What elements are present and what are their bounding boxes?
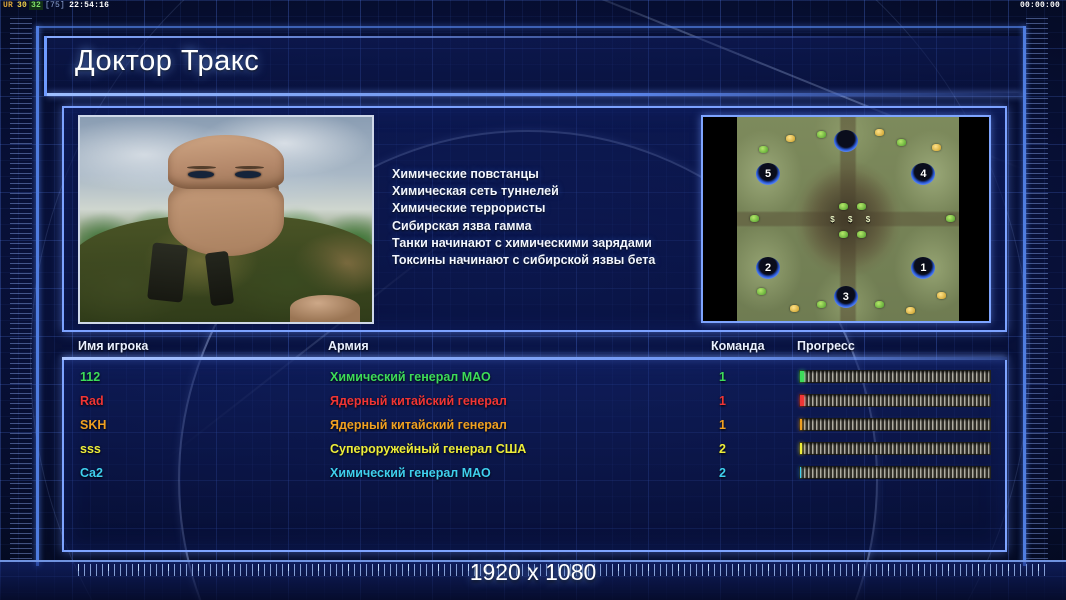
player-army: Супероружейный генерал США: [330, 442, 526, 456]
progress-bar-fill: [800, 395, 804, 406]
player-team: 1: [719, 370, 726, 384]
minimap-resource-blip: [839, 231, 848, 238]
description-line: Токсины начинают с сибирской язвы бета: [392, 252, 712, 269]
progress-bar-track: [799, 370, 991, 383]
progress-bar-track: [799, 442, 991, 455]
minimap-center-supply: $: [848, 215, 852, 224]
portrait-gear-strap-1: [147, 242, 188, 303]
minimap-resource-blip: [857, 231, 866, 238]
general-info-panel: Химические повстанцы Химическая сеть тун…: [62, 106, 1007, 332]
title-top-rule: [47, 36, 1022, 38]
table-row[interactable]: RadЯдерный китайский генерал1: [64, 389, 1005, 413]
player-team: 1: [719, 418, 726, 432]
player-name: 112: [80, 370, 100, 384]
column-header-team: Команда: [711, 339, 765, 353]
minimap-resource-blip: [897, 139, 906, 146]
description-line: Химическая сеть туннелей: [392, 183, 712, 200]
player-name: sss: [80, 442, 101, 456]
minimap-center-supply: $: [830, 215, 834, 224]
player-army: Ядерный китайский генерал: [330, 418, 507, 432]
player-progress: [799, 370, 991, 383]
progress-bar-track: [799, 394, 991, 407]
debug-value-b: 32: [29, 1, 43, 10]
minimap-terrain: 54213$$$: [737, 117, 959, 321]
player-team: 2: [719, 466, 726, 480]
player-name: Ca2: [80, 466, 103, 480]
minimap-resource-blip: [875, 129, 884, 136]
progress-bar-track: [799, 466, 991, 479]
minimap-resource-blip: [757, 288, 766, 295]
title-panel: Доктор Тракс: [44, 36, 1022, 96]
general-description: Химические повстанцы Химическая сеть тун…: [392, 166, 712, 269]
description-line: Сибирская язва гамма: [392, 218, 712, 235]
commander-portrait: [78, 115, 374, 324]
minimap-resource-blip: [857, 203, 866, 210]
minimap-resource-blip: [875, 301, 884, 308]
ruler-left: [10, 18, 32, 560]
minimap-resource-blip: [946, 215, 955, 222]
portrait-headwrap: [168, 135, 285, 188]
description-line: Химические террористы: [392, 200, 712, 217]
player-table-header: Имя игрока Армия Команда Прогресс: [62, 338, 1007, 360]
player-progress: [799, 466, 991, 479]
progress-bar-track: [799, 418, 991, 431]
minimap-center-supply: $: [866, 215, 870, 224]
column-header-name: Имя игрока: [78, 339, 148, 353]
minimap-spawn-2: 2: [756, 257, 780, 279]
page-title: Доктор Тракс: [75, 45, 259, 78]
player-table: 112Химический генерал МАО1RadЯдерный кит…: [62, 360, 1007, 552]
debug-label-ur: UR: [1, 1, 15, 10]
minimap-resource-blip: [790, 305, 799, 312]
resolution-label: 1920 x 1080: [0, 559, 1066, 586]
minimap-resource-blip: [786, 135, 795, 142]
player-name: Rad: [80, 394, 104, 408]
minimap-resource-blip: [759, 146, 768, 153]
debug-value-a: 30: [15, 1, 29, 10]
portrait-hand: [290, 295, 360, 322]
minimap-resource-blip: [906, 307, 915, 314]
minimap-resource-blip: [750, 215, 759, 222]
table-row[interactable]: 112Химический генерал МАО1: [64, 365, 1005, 389]
column-header-army: Армия: [328, 339, 369, 353]
progress-bar-fill: [800, 467, 801, 478]
description-line: Танки начинают с химическими зарядами: [392, 235, 712, 252]
minimap: 54213$$$: [701, 115, 991, 323]
player-progress: [799, 442, 991, 455]
progress-bar-fill: [800, 419, 802, 430]
table-row[interactable]: SKHЯдерный китайский генерал1: [64, 413, 1005, 437]
minimap-resource-blip: [937, 292, 946, 299]
player-progress: [799, 418, 991, 431]
table-row[interactable]: Ca2Химический генерал МАО2: [64, 461, 1005, 485]
minimap-spawn-3: 3: [834, 286, 858, 308]
minimap-resource-blip: [817, 301, 826, 308]
debug-clock: 22:54:16: [67, 1, 111, 10]
elapsed-timer: 00:00:00: [1020, 0, 1060, 12]
title-bottom-rule: [47, 93, 1022, 96]
debug-statusbar: UR3032[75]22:54:16 00:00:00: [0, 0, 1066, 12]
table-row[interactable]: sssСупероружейный генерал США2: [64, 437, 1005, 461]
debug-value-c: [75]: [43, 1, 67, 10]
loading-screen: UR3032[75]22:54:16 00:00:00 Доктор Тракс: [0, 0, 1066, 600]
ruler-right: [1026, 18, 1048, 560]
player-team: 2: [719, 442, 726, 456]
player-team: 1: [719, 394, 726, 408]
player-army: Ядерный китайский генерал: [330, 394, 507, 408]
player-progress: [799, 394, 991, 407]
minimap-resource-blip: [817, 131, 826, 138]
player-army: Химический генерал МАО: [330, 370, 491, 384]
minimap-resource-blip: [932, 144, 941, 151]
minimap-resource-blip: [839, 203, 848, 210]
player-name: SKH: [80, 418, 106, 432]
description-line: Химические повстанцы: [392, 166, 712, 183]
player-army: Химический генерал МАО: [330, 466, 491, 480]
progress-bar-fill: [800, 443, 802, 454]
column-header-progress: Прогресс: [797, 339, 855, 353]
progress-bar-fill: [800, 371, 804, 382]
